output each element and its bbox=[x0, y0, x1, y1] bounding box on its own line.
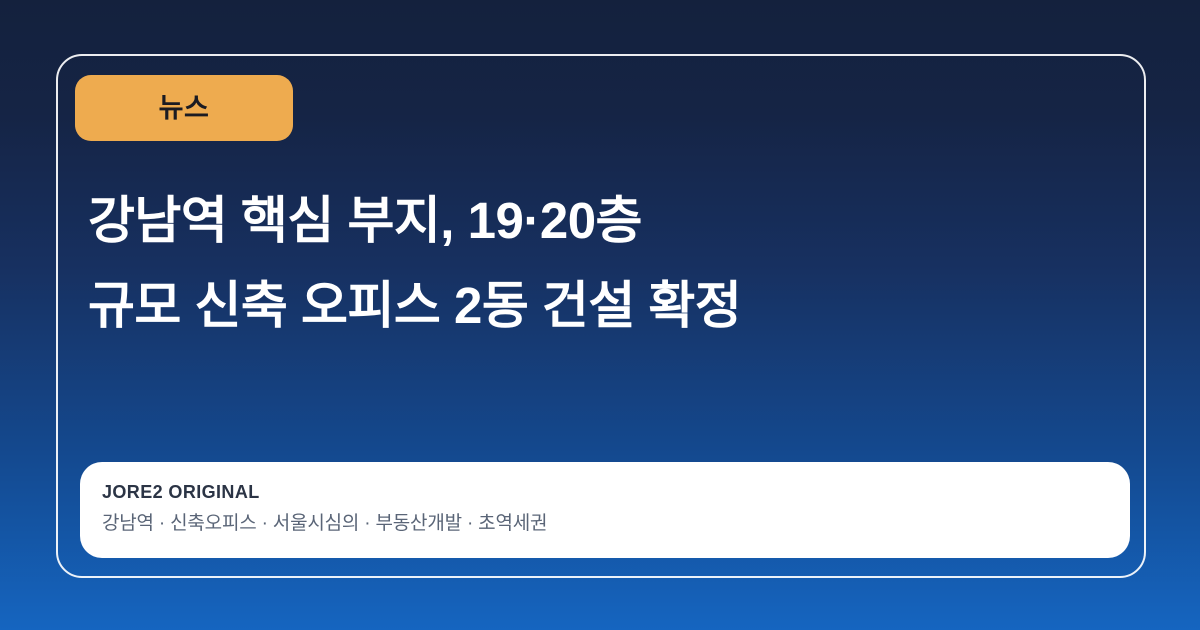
headline: 강남역 핵심 부지, 19·20층 규모 신축 오피스 2동 건설 확정 bbox=[88, 178, 1088, 348]
footer-card: JORE2 ORIGINAL 강남역 · 신축오피스 · 서울시심의 · 부동산… bbox=[80, 462, 1130, 558]
category-badge-label: 뉴스 bbox=[159, 95, 210, 122]
tag-list: 강남역 · 신축오피스 · 서울시심의 · 부동산개발 · 초역세권 bbox=[102, 511, 1130, 537]
brand-label: JORE2 ORIGINAL bbox=[102, 479, 1130, 505]
headline-line-1: 강남역 핵심 부지, 19·20층 bbox=[88, 178, 1088, 263]
headline-line-2: 규모 신축 오피스 2동 건설 확정 bbox=[88, 263, 1088, 348]
category-badge[interactable]: 뉴스 bbox=[75, 75, 293, 141]
og-card: 뉴스 강남역 핵심 부지, 19·20층 규모 신축 오피스 2동 건설 확정 … bbox=[0, 0, 1200, 630]
